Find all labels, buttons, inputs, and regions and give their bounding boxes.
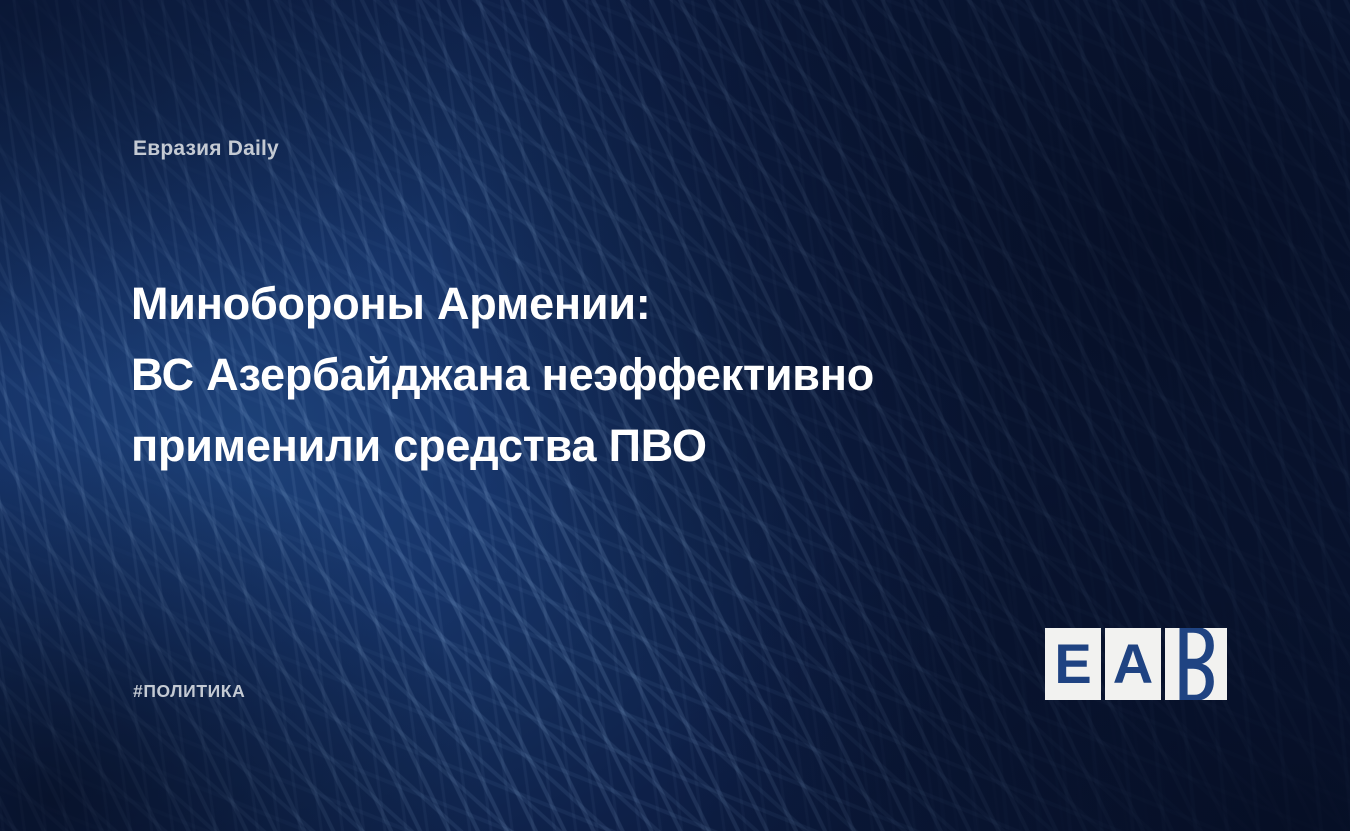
logo-letter-e: E (1045, 628, 1101, 700)
logo-tile-d-split: D D (1165, 628, 1227, 700)
headline-line-2: ВС Азербайджана неэффективно (131, 339, 1081, 410)
logo-tile-a: A (1105, 628, 1161, 700)
brand-label: Евразия Daily (133, 137, 279, 161)
logo-letter-a: A (1105, 628, 1161, 700)
headline-line-1: Минобороны Армении: (131, 268, 1081, 339)
eadaily-logo[interactable]: E A D D (1045, 628, 1227, 700)
page-title: Минобороны Армении: ВС Азербайджана неэф… (131, 268, 1081, 481)
logo-tile-d-bottom: D (1165, 664, 1227, 700)
logo-tile-e: E (1045, 628, 1101, 700)
headline-line-3: применили средства ПВО (131, 410, 1081, 481)
category-tag[interactable]: #ПОЛИТИКА (133, 681, 245, 702)
logo-tile-d-top: D (1165, 628, 1227, 664)
logo-letter-d-bottom: D (1168, 664, 1224, 700)
news-card: Евразия Daily Минобороны Армении: ВС Азе… (0, 0, 1350, 831)
logo-letter-d-top: D (1168, 628, 1224, 664)
